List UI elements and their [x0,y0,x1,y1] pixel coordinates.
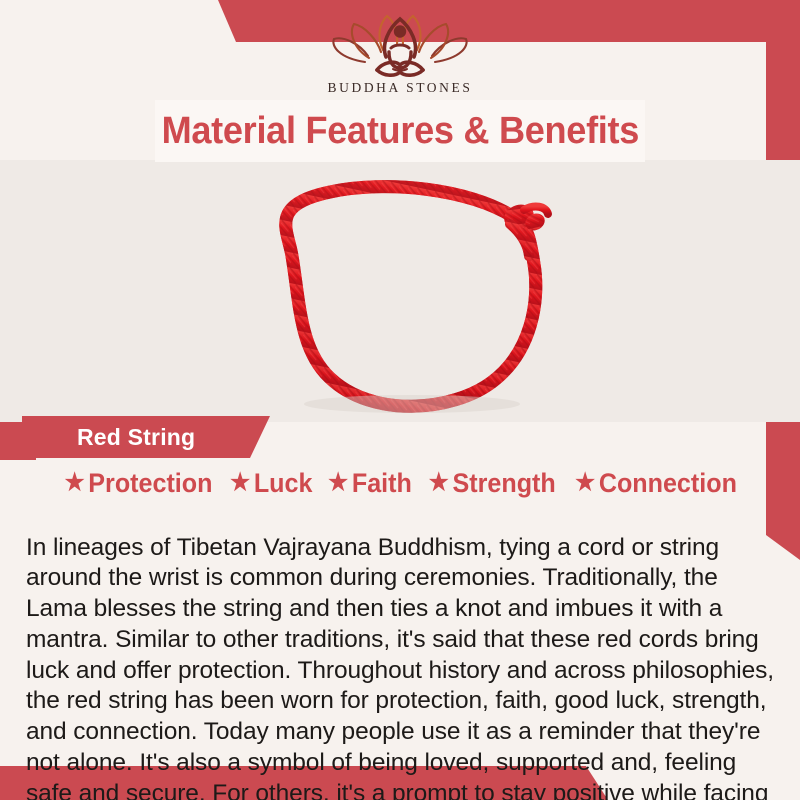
benefit-label: Strength [452,468,555,499]
benefit-label: Luck [254,468,313,499]
benefit-faith: ★ Faith [328,468,412,499]
brand-logo: BUDDHA STONES [0,8,800,96]
benefit-protection: ★ Protection [65,468,213,499]
benefit-label: Faith [351,468,411,499]
star-icon: ★ [230,471,250,495]
star-icon: ★ [575,471,595,495]
benefit-strength: ★ Strength [428,468,555,499]
benefit-label: Protection [88,468,212,499]
benefit-connection: ★ Connection [575,468,737,499]
brand-wordmark: BUDDHA STONES [0,80,800,96]
description-text: In lineages of Tibetan Vajrayana Buddhis… [26,533,778,800]
product-photo [0,160,800,422]
benefit-label: Connection [599,468,737,499]
ribbon-label: Red String [77,424,195,451]
red-string-bracelet-image [0,160,800,422]
title-banner: Material Features & Benefits [155,100,645,162]
star-icon: ★ [328,471,348,495]
star-icon: ★ [65,471,85,495]
benefits-list: ★ Protection ★ Luck ★ Faith ★ Strength ★… [36,462,766,504]
star-icon: ★ [428,471,448,495]
lotus-meditation-icon [325,8,475,78]
page-title: Material Features & Benefits [161,110,639,153]
red-string-ribbon: Red String [22,416,270,458]
benefit-luck: ★ Luck [230,468,312,499]
infographic-page: BUDDHA STONES Material Features & Benefi… [0,0,800,800]
